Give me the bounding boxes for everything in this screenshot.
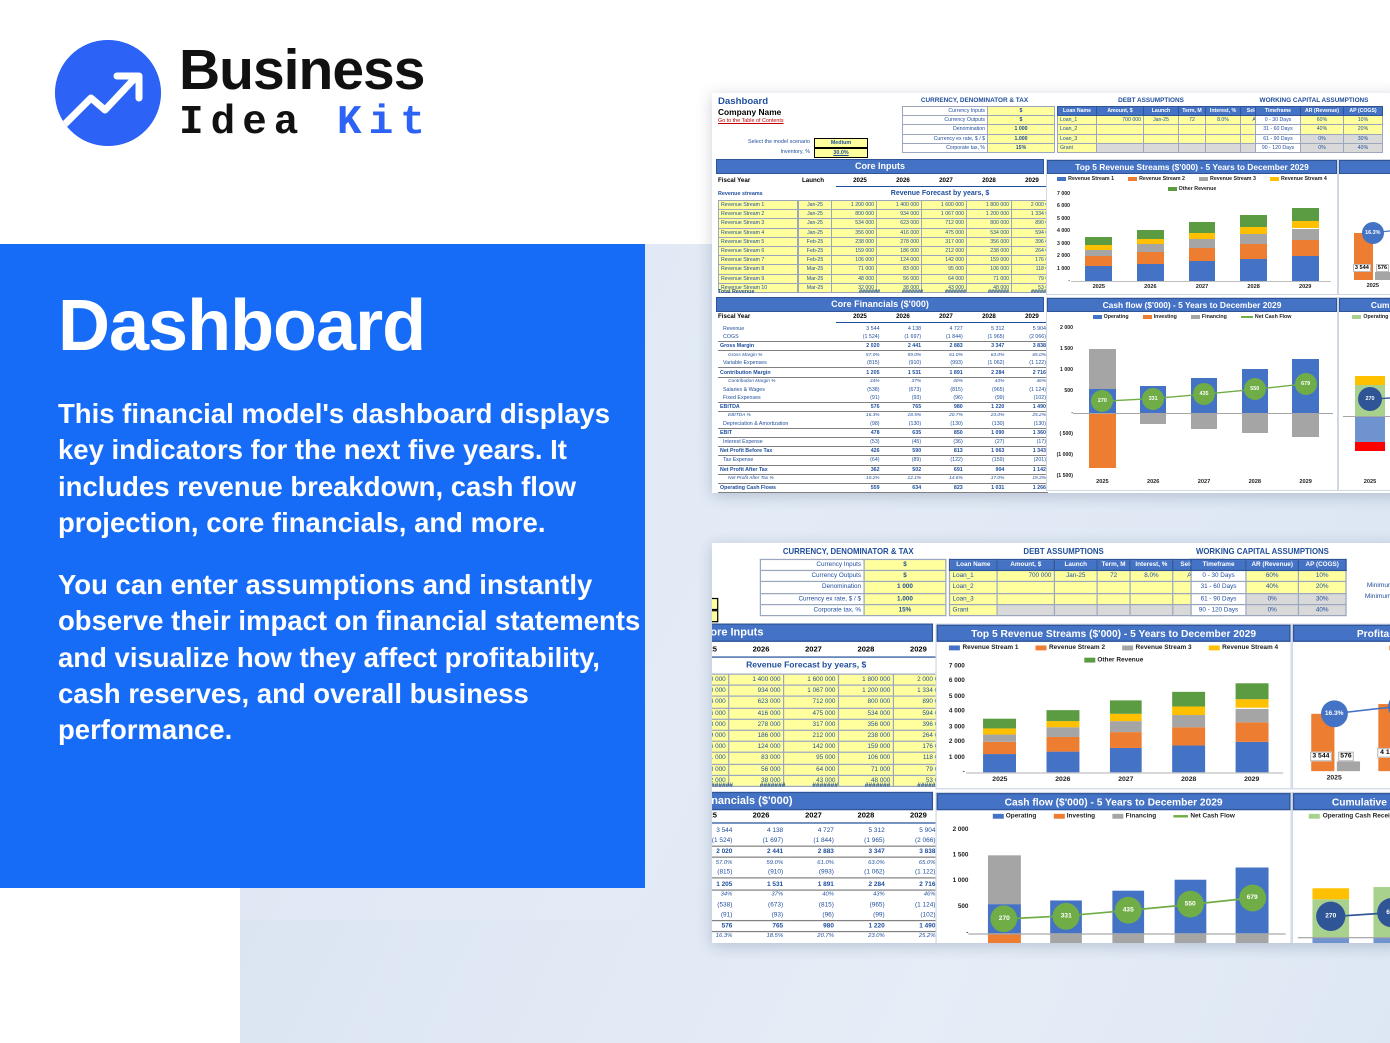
revenue-year-value[interactable]: 64 000 bbox=[784, 764, 839, 775]
debt-row[interactable]: Loan_1700 000Jan-25728.0%Annuity bbox=[1058, 116, 1282, 125]
revenue-year-value[interactable]: 238 000 bbox=[832, 237, 877, 246]
revenue-year-value[interactable]: 356 000 bbox=[712, 708, 729, 719]
debt-amount[interactable] bbox=[997, 582, 1054, 593]
core-financials-title: Core Financials ($'000) bbox=[712, 792, 933, 810]
revenue-values-row[interactable]: Mar-2571 00083 00095 000106 000118 000 bbox=[799, 265, 1057, 274]
revenue-stream-row[interactable]: Revenue Stream 1 bbox=[719, 201, 798, 210]
financials-year-header: 2026 bbox=[883, 313, 923, 320]
debt-interest[interactable] bbox=[1206, 143, 1241, 152]
debt-term[interactable] bbox=[1179, 134, 1206, 143]
revenue-year-value[interactable]: 800 000 bbox=[967, 219, 1012, 228]
wc-ar[interactable]: 0% bbox=[1301, 143, 1344, 152]
scenario-select[interactable]: Medium bbox=[712, 598, 718, 610]
revenue-year-value[interactable]: 159 000 bbox=[832, 246, 877, 255]
bar-segment bbox=[1235, 683, 1268, 699]
debt-term[interactable] bbox=[1097, 604, 1130, 615]
revenue-year-value[interactable]: 48 000 bbox=[712, 764, 729, 775]
currency-value[interactable]: $ bbox=[988, 116, 1055, 125]
legend-item: Revenue Stream 3 bbox=[1122, 644, 1191, 652]
revenue-values-row[interactable]: Mar-2571 00083 00095 000106 000118 000 bbox=[712, 753, 948, 764]
financial-value: (1 524) bbox=[840, 333, 882, 342]
revenue-stream-name[interactable]: Revenue Stream 8 bbox=[719, 265, 798, 274]
revenue-year-value[interactable]: 238 000 bbox=[712, 719, 729, 730]
revenue-values-row[interactable]: Jan-25800 000934 0001 067 0001 200 0001 … bbox=[799, 210, 1057, 219]
financial-value: (1 697) bbox=[882, 333, 924, 342]
revenue-year-value[interactable]: 1 600 000 bbox=[784, 674, 839, 685]
debt-row[interactable]: Loan_2 bbox=[1058, 125, 1282, 134]
revenue-year-value[interactable]: 356 000 bbox=[967, 237, 1012, 246]
y-tick-label: 2 000 bbox=[1047, 253, 1070, 259]
revenue-year-value[interactable]: 106 000 bbox=[967, 265, 1012, 274]
debt-amount[interactable] bbox=[997, 604, 1054, 615]
currency-value[interactable]: 15% bbox=[988, 143, 1055, 152]
revenue-launch[interactable]: Jan-25 bbox=[799, 210, 832, 219]
bubble-net-cash-flow: 679 bbox=[1239, 884, 1266, 911]
chart-profitability[interactable]: Profitability ($'000) - 5 Years to Decem… bbox=[1338, 159, 1390, 295]
revenue-year-value[interactable]: 534 000 bbox=[967, 228, 1012, 237]
revenue-year-value[interactable]: 212 000 bbox=[922, 246, 967, 255]
debt-launch[interactable] bbox=[1144, 143, 1179, 152]
scenario-select[interactable]: Medium bbox=[814, 138, 868, 148]
revenue-year-value[interactable]: 238 000 bbox=[838, 730, 893, 741]
revenue-stream-row[interactable]: Revenue Stream 7 bbox=[719, 256, 798, 265]
bar-segment bbox=[1189, 261, 1216, 281]
revenue-year-value[interactable]: 475 000 bbox=[784, 708, 839, 719]
wc-ar[interactable]: 60% bbox=[1246, 571, 1298, 582]
legend-item: Revenue Stream 4 bbox=[1270, 176, 1327, 182]
revenue-forecast-title: Revenue Forecast by years, $ bbox=[832, 190, 1048, 197]
revenue-year-value[interactable]: 71 000 bbox=[838, 764, 893, 775]
wc-ap[interactable]: 40% bbox=[1344, 143, 1383, 152]
revenue-year-value[interactable]: 712 000 bbox=[784, 697, 839, 708]
wc-header-cell: AP (COGS) bbox=[1298, 559, 1346, 570]
revenue-stream-row[interactable]: Revenue Stream 6 bbox=[719, 246, 798, 255]
revenue-year-value[interactable]: 159 000 bbox=[838, 741, 893, 752]
revenue-year-value[interactable]: 712 000 bbox=[922, 219, 967, 228]
revenue-year-value[interactable]: 106 000 bbox=[712, 741, 729, 752]
debt-interest[interactable] bbox=[1206, 134, 1241, 143]
debt-interest[interactable] bbox=[1130, 604, 1173, 615]
debt-launch[interactable] bbox=[1144, 125, 1179, 134]
revenue-year-value[interactable]: 186 000 bbox=[729, 730, 784, 741]
debt-amount[interactable]: 700 000 bbox=[997, 571, 1054, 582]
revenue-stream-name[interactable]: Revenue Stream 1 bbox=[719, 201, 798, 210]
revenue-values-row[interactable]: Jan-251 200 0001 400 0001 600 0001 800 0… bbox=[799, 201, 1057, 210]
financial-value: 765 bbox=[882, 402, 924, 411]
revenue-year-value[interactable]: 278 000 bbox=[729, 719, 784, 730]
chart-cash-flow[interactable]: Cash flow ($'000) - 5 Years to December … bbox=[1046, 297, 1338, 491]
revenue-year-value[interactable]: 1 400 000 bbox=[877, 201, 922, 210]
currency-value[interactable]: 1.000 bbox=[864, 593, 946, 604]
financial-label: Contribution Margin % bbox=[718, 377, 840, 386]
chart-title-revenue-streams: Top 5 Revenue Streams ($'000) - 5 Years … bbox=[937, 625, 1291, 642]
revenue-year-value[interactable]: 48 000 bbox=[832, 274, 877, 283]
revenue-year-value[interactable]: 1 200 000 bbox=[967, 210, 1012, 219]
inventory-input[interactable]: 30.0% bbox=[814, 148, 868, 158]
financial-row: Net Profit Before Tax4265908131 0631 343 bbox=[718, 447, 1048, 456]
revenue-year-value[interactable]: 142 000 bbox=[784, 741, 839, 752]
legend-label: Financing bbox=[1126, 813, 1157, 820]
legend-color-swatch bbox=[1093, 315, 1102, 319]
financial-value: (93) bbox=[735, 910, 786, 920]
financial-row: Fixed Expenses(91)(93)(96)(99)(102) bbox=[712, 910, 938, 920]
dashboard-sheet-top[interactable]: DashboardCompany NameGo to the Table of … bbox=[712, 93, 1390, 493]
financial-value: (17) bbox=[1006, 438, 1048, 447]
wc-row[interactable]: 61 - 90 Days0%30% bbox=[1256, 134, 1383, 143]
chart-cumulative-cashflow[interactable]: Cumulative CashFlow ($'000) - 5 Years to… bbox=[1292, 792, 1390, 943]
x-tick-label: 2029 bbox=[1227, 776, 1276, 783]
wc-ar[interactable]: 40% bbox=[1301, 125, 1344, 134]
wc-ar[interactable]: 0% bbox=[1301, 134, 1344, 143]
revenue-launch[interactable]: Mar-25 bbox=[799, 274, 832, 283]
table-of-contents-link[interactable]: Go to the Table of Contents bbox=[718, 118, 784, 124]
debt-interest[interactable]: 8.0% bbox=[1130, 571, 1173, 582]
chart-title-cumulative-cashflow: Cumulative CashFlow ($'000) - 5 Years to… bbox=[1339, 298, 1390, 312]
financial-value: 576 bbox=[712, 920, 735, 931]
revenue-year-value[interactable]: 356 000 bbox=[832, 228, 877, 237]
revenue-launch[interactable]: Feb-25 bbox=[799, 237, 832, 246]
revenue-values-row[interactable]: Feb-25238 000278 000317 000356 000396 00… bbox=[799, 237, 1057, 246]
debt-amount[interactable] bbox=[1097, 134, 1144, 143]
legend-label: Investing bbox=[1154, 314, 1177, 320]
revenue-year-value[interactable]: 124 000 bbox=[877, 256, 922, 265]
legend-item: Revenue Stream 1 bbox=[949, 644, 1018, 652]
currency-value[interactable]: 15% bbox=[864, 604, 946, 615]
wc-row[interactable]: 90 - 120 Days0%40% bbox=[1191, 604, 1346, 615]
financial-value: (673) bbox=[735, 900, 786, 910]
financial-value: (130) bbox=[786, 942, 837, 943]
revenue-year-value[interactable]: 71 000 bbox=[712, 753, 729, 764]
wc-row[interactable]: 0 - 30 Days60%10% bbox=[1191, 571, 1346, 582]
revenue-year-value[interactable]: 534 000 bbox=[712, 697, 729, 708]
debt-amount[interactable] bbox=[997, 593, 1054, 604]
revenue-values-row[interactable]: Feb-25159 000186 000212 000238 000264 00… bbox=[799, 246, 1057, 255]
revenue-year-value[interactable]: 278 000 bbox=[877, 237, 922, 246]
inventory-input[interactable]: 30.0% bbox=[712, 610, 718, 622]
revenue-stream-name[interactable]: Revenue Stream 6 bbox=[719, 246, 798, 255]
wc-row[interactable]: 61 - 90 Days0%30% bbox=[1191, 593, 1346, 604]
financial-value: 5 312 bbox=[965, 325, 1007, 333]
debt-row[interactable]: Loan_1700 000Jan-25728.0%Annuity bbox=[950, 571, 1223, 582]
wc-ar[interactable]: 40% bbox=[1246, 582, 1298, 593]
wc-ar[interactable]: 60% bbox=[1301, 116, 1344, 125]
revenue-year-value[interactable]: 124 000 bbox=[729, 741, 784, 752]
revenue-year-value[interactable]: 1 600 000 bbox=[922, 201, 967, 210]
revenue-year-value[interactable]: 1 800 000 bbox=[967, 201, 1012, 210]
chart-revenue-streams[interactable]: Top 5 Revenue Streams ($'000) - 5 Years … bbox=[1046, 159, 1338, 295]
revenue-year-value[interactable]: 142 000 bbox=[922, 256, 967, 265]
revenue-launch[interactable]: Jan-25 bbox=[799, 201, 832, 210]
revenue-values-row[interactable]: Jan-25534 000623 000712 000800 000890 00… bbox=[799, 219, 1057, 228]
financial-value: 12.1% bbox=[882, 474, 924, 483]
debt-amount[interactable] bbox=[1097, 125, 1144, 134]
hero-paragraph-2: You can enter assumptions and instantly … bbox=[58, 567, 658, 748]
revenue-year-value[interactable]: 95 000 bbox=[922, 265, 967, 274]
debt-row[interactable]: Loan_3 bbox=[950, 593, 1223, 604]
debt-launch[interactable]: Jan-25 bbox=[1054, 571, 1097, 582]
wc-row[interactable]: 31 - 60 Days40%20% bbox=[1191, 582, 1346, 593]
revenue-year-value[interactable]: 317 000 bbox=[922, 237, 967, 246]
legend-color-swatch bbox=[1168, 187, 1177, 191]
bar-segment bbox=[1137, 252, 1164, 264]
wc-row[interactable]: 31 - 60 Days40%20% bbox=[1256, 125, 1383, 134]
revenue-launch[interactable]: Mar-25 bbox=[799, 265, 832, 274]
debt-term[interactable]: 72 bbox=[1097, 571, 1130, 582]
revenue-year-value[interactable]: 106 000 bbox=[838, 753, 893, 764]
debt-row[interactable]: Grant bbox=[1058, 143, 1282, 152]
revenue-values-row[interactable]: Jan-251 200 0001 400 0001 600 0001 800 0… bbox=[712, 674, 948, 685]
revenue-year-value[interactable]: 95 000 bbox=[784, 753, 839, 764]
revenue-year-value[interactable]: 1 800 000 bbox=[838, 674, 893, 685]
revenue-year-value[interactable]: 186 000 bbox=[877, 246, 922, 255]
financials-year-header: 2027 bbox=[926, 313, 966, 320]
revenue-stream-name[interactable]: Revenue Stream 9 bbox=[719, 274, 798, 283]
currency-value[interactable]: 1 000 bbox=[988, 125, 1055, 134]
revenue-stream-name[interactable]: Revenue Stream 2 bbox=[719, 210, 798, 219]
debt-launch[interactable] bbox=[1144, 134, 1179, 143]
debt-interest[interactable]: 8.0% bbox=[1206, 116, 1241, 125]
debt-row[interactable]: Loan_2 bbox=[950, 582, 1223, 593]
debt-amount[interactable]: 700 000 bbox=[1097, 116, 1144, 125]
revenue-year-value[interactable]: 212 000 bbox=[784, 730, 839, 741]
revenue-stream-row[interactable]: Revenue Stream 4 bbox=[719, 228, 798, 237]
financial-row: Net Profit After Tax %10.2%12.1%14.6%17.… bbox=[718, 474, 1048, 483]
revenue-year-value[interactable]: 71 000 bbox=[967, 274, 1012, 283]
revenue-values-row[interactable]: Feb-25106 000124 000142 000159 000176 00… bbox=[712, 741, 948, 752]
financial-value: (2 066) bbox=[1006, 333, 1048, 342]
revenue-stream-row[interactable]: Revenue Stream 3 bbox=[719, 219, 798, 228]
revenue-year-value[interactable]: 56 000 bbox=[877, 274, 922, 283]
financial-value: 2 883 bbox=[786, 846, 837, 857]
debt-amount[interactable] bbox=[1097, 143, 1144, 152]
financial-value: 980 bbox=[786, 920, 837, 931]
legend-color-swatch bbox=[949, 645, 960, 650]
revenue-year-value[interactable]: 159 000 bbox=[967, 256, 1012, 265]
revenue-year-value[interactable]: 1 200 000 bbox=[838, 685, 893, 696]
revenue-stream-name[interactable]: Revenue Stream 3 bbox=[719, 219, 798, 228]
bar-segment bbox=[1085, 250, 1112, 257]
revenue-year-value[interactable]: 800 000 bbox=[832, 210, 877, 219]
bar-segment bbox=[1240, 259, 1267, 281]
wc-ar[interactable]: 0% bbox=[1246, 593, 1298, 604]
revenue-launch[interactable]: Jan-25 bbox=[799, 228, 832, 237]
revenue-launch[interactable]: Feb-25 bbox=[799, 246, 832, 255]
financial-value: 63.0% bbox=[836, 857, 887, 867]
currency-value[interactable]: $ bbox=[988, 107, 1055, 116]
chart-profitability[interactable]: Profitability ($'000) - 5 Years to Decem… bbox=[1292, 624, 1390, 790]
legend-label: Revenue Stream 4 bbox=[1281, 176, 1327, 182]
y-tick-label: 5 000 bbox=[1047, 216, 1070, 222]
debt-term[interactable] bbox=[1097, 582, 1130, 593]
debt-launch[interactable] bbox=[1054, 604, 1097, 615]
revenue-launch[interactable]: Feb-25 bbox=[799, 256, 832, 265]
debt-term[interactable] bbox=[1097, 593, 1130, 604]
financial-label: Net Profit After Tax bbox=[718, 465, 840, 474]
revenue-year-value[interactable]: 1 200 000 bbox=[832, 201, 877, 210]
wc-ap[interactable]: 10% bbox=[1344, 116, 1383, 125]
financial-value: 3 838 bbox=[887, 846, 938, 857]
debt-term[interactable] bbox=[1179, 125, 1206, 134]
core-inputs-title: Core Inputs bbox=[716, 159, 1044, 174]
revenue-values-row[interactable]: Feb-25106 000124 000142 000159 000176 00… bbox=[799, 256, 1057, 265]
wc-ap[interactable]: 30% bbox=[1298, 593, 1346, 604]
financial-row: Salaries & Wages(538)(673)(815)(965)(1 1… bbox=[718, 386, 1048, 394]
brand-kit: Kit bbox=[337, 100, 432, 146]
financial-value: 2 716 bbox=[1006, 368, 1048, 377]
debt-interest[interactable] bbox=[1130, 593, 1173, 604]
financial-value: (538) bbox=[712, 900, 735, 910]
debt-launch[interactable]: Jan-25 bbox=[1144, 116, 1179, 125]
revenue-stream-row[interactable]: Revenue Stream 8 bbox=[719, 265, 798, 274]
revenue-year-value[interactable]: 106 000 bbox=[832, 256, 877, 265]
revenue-year-value[interactable]: 83 000 bbox=[729, 753, 784, 764]
dashboard-sheet-bottom[interactable]: DashboardCompany NameGo to the Table of … bbox=[712, 543, 1390, 943]
revenue-year-value[interactable]: 934 000 bbox=[877, 210, 922, 219]
revenue-year-value[interactable]: 416 000 bbox=[729, 708, 784, 719]
revenue-year-value[interactable]: 534 000 bbox=[838, 708, 893, 719]
currency-value[interactable]: 1 000 bbox=[864, 582, 946, 593]
revenue-year-value[interactable]: 159 000 bbox=[712, 730, 729, 741]
debt-term[interactable] bbox=[1179, 143, 1206, 152]
revenue-stream-row[interactable]: Revenue Stream 5 bbox=[719, 237, 798, 246]
debt-header-row: Loan NameAmount, $LaunchTerm, MInterest,… bbox=[950, 559, 1223, 570]
year-header: 2028 bbox=[969, 177, 1009, 184]
revenue-launch[interactable]: Jan-25 bbox=[799, 219, 832, 228]
revenue-stream-row[interactable]: Revenue Stream 9 bbox=[719, 274, 798, 283]
revenue-year-value[interactable]: 800 000 bbox=[838, 697, 893, 708]
currency-row: Currency ex rate, $ / $1.000 bbox=[903, 134, 1055, 143]
revenue-year-value[interactable]: 71 000 bbox=[832, 265, 877, 274]
currency-value[interactable]: $ bbox=[864, 571, 946, 582]
financial-row: Gross Margin %57.0%59.0%61.0%63.0%65.0% bbox=[712, 857, 938, 867]
plot-revenue-streams: -1 0002 0003 0004 0005 0006 0007 0002025… bbox=[1047, 194, 1337, 281]
financial-value: 502 bbox=[882, 465, 924, 474]
axis-baseline bbox=[1071, 281, 1331, 282]
debt-table: Loan NameAmount, $LaunchTerm, MInterest,… bbox=[1057, 106, 1282, 153]
revenue-values-row[interactable]: Jan-25356 000416 000475 000534 000594 00… bbox=[799, 228, 1057, 237]
revenue-stream-name[interactable]: Revenue Stream 4 bbox=[719, 228, 798, 237]
legend-label: Revenue Stream 1 bbox=[1068, 176, 1114, 182]
revenue-year-value[interactable]: 356 000 bbox=[838, 719, 893, 730]
debt-section-title: DEBT ASSUMPTIONS bbox=[1057, 97, 1245, 104]
financial-label: Revenue bbox=[718, 325, 840, 333]
revenue-year-value[interactable]: 475 000 bbox=[922, 228, 967, 237]
wc-ar[interactable]: 0% bbox=[1246, 604, 1298, 615]
chart-cumulative-cashflow[interactable]: Cumulative CashFlow ($'000) - 5 Years to… bbox=[1338, 297, 1390, 491]
financial-label: Operating Cash Flows bbox=[718, 483, 840, 492]
wc-ap[interactable]: 30% bbox=[1344, 134, 1383, 143]
year-header: 2025 bbox=[712, 645, 733, 654]
debt-row[interactable]: Loan_3 bbox=[1058, 134, 1282, 143]
wc-row[interactable]: 0 - 30 Days60%10% bbox=[1256, 116, 1383, 125]
legend-profitability: RevenueEBITDAEBITDA % bbox=[1293, 641, 1390, 654]
revenue-values-row[interactable]: Jan-25534 000623 000712 000800 000890 00… bbox=[712, 697, 948, 708]
revenue-year-value[interactable]: 534 000 bbox=[832, 219, 877, 228]
revenue-year-value[interactable]: 623 000 bbox=[729, 697, 784, 708]
revenue-year-value[interactable]: 623 000 bbox=[877, 219, 922, 228]
revenue-values-row[interactable]: Feb-25159 000186 000212 000238 000264 00… bbox=[712, 730, 948, 741]
currency-row: Denomination1 000 bbox=[760, 582, 945, 593]
currency-row: Corporate tax, %15% bbox=[903, 143, 1055, 152]
financial-label: Depreciation & Amortization bbox=[718, 420, 840, 429]
wc-row[interactable]: 90 - 120 Days0%40% bbox=[1256, 143, 1383, 152]
currency-row: Currency Outputs$ bbox=[903, 116, 1055, 125]
debt-row[interactable]: Grant bbox=[950, 604, 1223, 615]
revenue-year-value[interactable]: 1 200 000 bbox=[712, 674, 729, 685]
wc-timeframe: 0 - 30 Days bbox=[1191, 571, 1246, 582]
wc-ap[interactable]: 20% bbox=[1344, 125, 1383, 134]
year-header: 2027 bbox=[926, 177, 966, 184]
revenue-year-value[interactable]: 317 000 bbox=[784, 719, 839, 730]
currency-value[interactable]: $ bbox=[864, 559, 946, 570]
legend-revenue-streams: Revenue Stream 1Revenue Stream 2Revenue … bbox=[1047, 173, 1337, 194]
revenue-year-value[interactable]: 800 000 bbox=[712, 685, 729, 696]
wc-ap[interactable]: 40% bbox=[1298, 604, 1346, 615]
brand-name-line1: Business bbox=[179, 42, 432, 99]
bar-segment bbox=[1292, 221, 1319, 228]
revenue-year-value[interactable]: 416 000 bbox=[877, 228, 922, 237]
wc-ap[interactable]: 10% bbox=[1298, 571, 1346, 582]
kpi-label: Minimum Cash ($'000) bbox=[1365, 593, 1390, 600]
revenue-year-value[interactable]: 64 000 bbox=[922, 274, 967, 283]
wc-ap[interactable]: 20% bbox=[1298, 582, 1346, 593]
revenue-year-value[interactable]: 934 000 bbox=[729, 685, 784, 696]
revenue-values-row[interactable]: Jan-25800 000934 0001 067 0001 200 0001 … bbox=[712, 685, 948, 696]
financial-value: 59.0% bbox=[735, 857, 786, 867]
revenue-values-row[interactable]: Mar-2548 00056 00064 00071 00079 000 bbox=[712, 764, 948, 775]
debt-header-cell: Launch bbox=[1054, 559, 1097, 570]
financials-year-header: 2028 bbox=[842, 811, 891, 820]
chart-revenue-streams[interactable]: Top 5 Revenue Streams ($'000) - 5 Years … bbox=[935, 624, 1291, 790]
bar-segment bbox=[1109, 721, 1142, 732]
debt-interest[interactable] bbox=[1206, 125, 1241, 134]
revenue-stream-name[interactable]: Revenue Stream 5 bbox=[719, 237, 798, 246]
debt-interest[interactable] bbox=[1130, 582, 1173, 593]
financial-value: 478 bbox=[840, 429, 882, 438]
x-tick-label: 2025 bbox=[1082, 479, 1122, 485]
debt-launch[interactable] bbox=[1054, 593, 1097, 604]
x-tick-label: 2026 bbox=[1038, 776, 1087, 783]
revenue-year-value[interactable]: 1 067 000 bbox=[922, 210, 967, 219]
revenue-values-row[interactable]: Feb-25238 000278 000317 000356 000396 00… bbox=[712, 719, 948, 730]
debt-header-cell: Interest, % bbox=[1130, 559, 1173, 570]
revenue-year-value[interactable]: 1 400 000 bbox=[729, 674, 784, 685]
financial-value: 1 036 bbox=[923, 492, 965, 493]
chart-cash-flow[interactable]: Cash flow ($'000) - 5 Years to December … bbox=[935, 792, 1291, 943]
financial-value: 426 bbox=[840, 447, 882, 456]
revenue-year-value[interactable]: 83 000 bbox=[877, 265, 922, 274]
revenue-values-row[interactable]: Jan-25356 000416 000475 000534 000594 00… bbox=[712, 708, 948, 719]
x-tick-label: 2029 bbox=[1286, 479, 1326, 485]
legend-cash-flow: OperatingInvestingFinancingNet Cash Flow bbox=[1047, 311, 1337, 321]
revenue-year-value[interactable]: 1 067 000 bbox=[784, 685, 839, 696]
currency-value[interactable]: 1.000 bbox=[988, 134, 1055, 143]
y-tick-label: 7 000 bbox=[937, 663, 965, 670]
revenue-launch[interactable]: Mar-25 bbox=[799, 283, 832, 292]
revenue-stream-row[interactable]: Revenue Stream 2 bbox=[719, 210, 798, 219]
debt-loan-name: Grant bbox=[1058, 143, 1097, 152]
debt-term[interactable]: 72 bbox=[1179, 116, 1206, 125]
hero-panel: Dashboard This financial model's dashboa… bbox=[58, 290, 658, 775]
debt-loan-name: Loan_3 bbox=[1058, 134, 1097, 143]
revenue-values-row[interactable]: Mar-2548 00056 00064 00071 00079 000 bbox=[799, 274, 1057, 283]
debt-launch[interactable] bbox=[1054, 582, 1097, 593]
debt-header-cell: Amount, $ bbox=[997, 559, 1054, 570]
revenue-year-value[interactable]: 238 000 bbox=[967, 246, 1012, 255]
revenue-stream-name[interactable]: Revenue Stream 7 bbox=[719, 256, 798, 265]
bar-segment bbox=[984, 754, 1017, 772]
revenue-year-value[interactable]: 56 000 bbox=[729, 764, 784, 775]
